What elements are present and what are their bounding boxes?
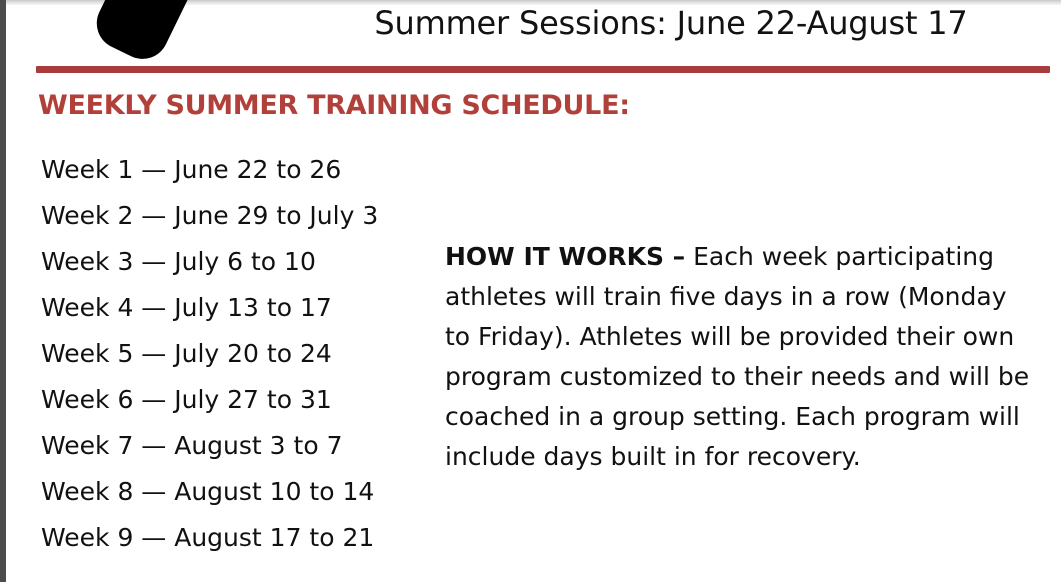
weekly-schedule-list: Week 1 — June 22 to 26 Week 2 — June 29 …: [41, 152, 441, 566]
how-it-works-label: HOW IT WORKS –: [445, 242, 685, 271]
list-item: Week 2 — June 29 to July 3: [41, 198, 441, 244]
list-item: Week 7 — August 3 to 7: [41, 428, 441, 474]
list-item: Week 8 — August 10 to 14: [41, 474, 441, 520]
document-header: YMCA Summer Sessions: June 22-August 17: [6, 0, 1061, 62]
how-it-works-paragraph: HOW IT WORKS – Each week participating a…: [445, 237, 1030, 477]
list-item: Week 9 — August 17 to 21: [41, 520, 441, 566]
list-item: Week 6 — July 27 to 31: [41, 382, 441, 428]
header-divider-rule: [36, 66, 1050, 73]
list-item: Week 3 — July 6 to 10: [41, 244, 441, 290]
page-title: Summer Sessions: June 22-August 17: [336, 4, 1006, 42]
list-item: Week 5 — July 20 to 24: [41, 336, 441, 382]
page-left-gutter-bar: [0, 0, 6, 582]
ymca-logo: YMCA: [104, 0, 236, 58]
section-heading-weekly-schedule: WEEKLY SUMMER TRAINING SCHEDULE:: [38, 90, 630, 121]
list-item: Week 4 — July 13 to 17: [41, 290, 441, 336]
ymca-wedge-icon: [88, 0, 194, 68]
list-item: Week 1 — June 22 to 26: [41, 152, 441, 198]
how-it-works-body: Each week participating athletes will tr…: [445, 242, 1029, 471]
document-page: YMCA Summer Sessions: June 22-August 17 …: [0, 0, 1061, 582]
